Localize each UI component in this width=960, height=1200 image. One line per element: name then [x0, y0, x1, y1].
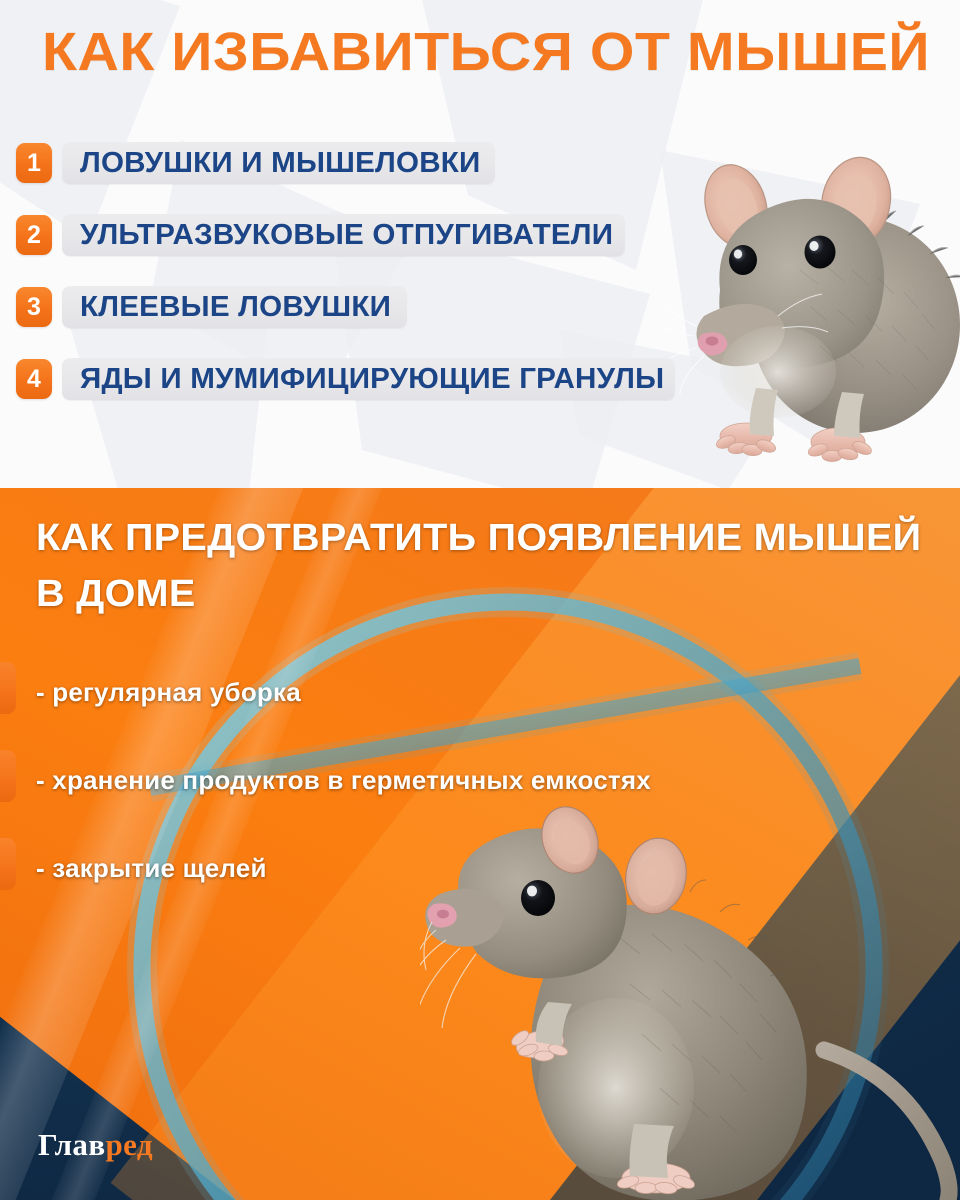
item-pill: ЛОВУШКИ И МЫШЕЛОВКИ: [62, 142, 495, 184]
list-item[interactable]: - регулярная уборка: [0, 648, 860, 736]
section-title-line-2: В ДОМЕ: [36, 566, 951, 622]
logo-part-white: Глав: [38, 1127, 105, 1162]
bullet-tab-marker: [0, 838, 16, 890]
item-label: КЛЕЕВЫЕ ЛОВУШКИ: [80, 292, 391, 322]
infographic-poster: КАК ИЗБАВИТЬСЯ ОТ МЫШЕЙ 1 ЛОВУШКИ И МЫШЕ…: [0, 0, 960, 1200]
logo-part-orange: ред: [105, 1127, 152, 1162]
bottom-section: КАК ПРЕДОТВРАТИТЬ ПОЯВЛЕНИЕ МЫШЕЙ В ДОМЕ…: [0, 488, 960, 1200]
list-item[interactable]: 3 КЛЕЕВЫЕ ЛОВУШКИ: [16, 284, 796, 330]
item-label: УЛЬТРАЗВУКОВЫЕ ОТПУГИВАТЕЛИ: [80, 220, 613, 250]
item-pill: УЛЬТРАЗВУКОВЫЕ ОТПУГИВАТЕЛИ: [62, 214, 625, 256]
bullet-label: - хранение продуктов в герметичных емкос…: [36, 765, 651, 795]
list-item[interactable]: 4 ЯДЫ И МУМИФИЦИРУЮЩИЕ ГРАНУЛЫ: [16, 356, 796, 402]
item-label: ЯДЫ И МУМИФИЦИРУЮЩИЕ ГРАНУЛЫ: [80, 364, 664, 394]
methods-list: 1 ЛОВУШКИ И МЫШЕЛОВКИ 2 УЛЬТРАЗВУКОВЫЕ О…: [16, 140, 796, 428]
list-item[interactable]: 1 ЛОВУШКИ И МЫШЕЛОВКИ: [16, 140, 796, 186]
list-item[interactable]: - закрытие щелей: [0, 824, 860, 912]
item-number-badge: 4: [16, 359, 52, 399]
item-number-badge: 2: [16, 215, 52, 255]
bullet-tab-marker: [0, 662, 16, 714]
page-title: КАК ИЗБАВИТЬСЯ ОТ МЫШЕЙ: [42, 22, 960, 82]
section-title: КАК ПРЕДОТВРАТИТЬ ПОЯВЛЕНИЕ МЫШЕЙ В ДОМЕ: [36, 510, 951, 622]
item-pill: КЛЕЕВЫЕ ЛОВУШКИ: [62, 286, 407, 328]
list-item[interactable]: 2 УЛЬТРАЗВУКОВЫЕ ОТПУГИВАТЕЛИ: [16, 212, 796, 258]
bullet-label: - регулярная уборка: [36, 677, 301, 707]
item-pill: ЯДЫ И МУМИФИЦИРУЮЩИЕ ГРАНУЛЫ: [62, 358, 675, 400]
list-item[interactable]: - хранение продуктов в герметичных емкос…: [0, 736, 860, 824]
top-section: КАК ИЗБАВИТЬСЯ ОТ МЫШЕЙ 1 ЛОВУШКИ И МЫШЕ…: [0, 0, 960, 488]
prevention-list: - регулярная уборка - хранение продуктов…: [0, 648, 860, 912]
section-title-line-1: КАК ПРЕДОТВРАТИТЬ ПОЯВЛЕНИЕ МЫШЕЙ: [36, 510, 951, 566]
item-number-badge: 3: [16, 287, 52, 327]
bullet-tab-marker: [0, 750, 16, 802]
bullet-label: - закрытие щелей: [36, 853, 267, 883]
brand-logo[interactable]: Главред: [38, 1128, 153, 1162]
item-number-badge: 1: [16, 143, 52, 183]
item-label: ЛОВУШКИ И МЫШЕЛОВКИ: [80, 148, 481, 178]
